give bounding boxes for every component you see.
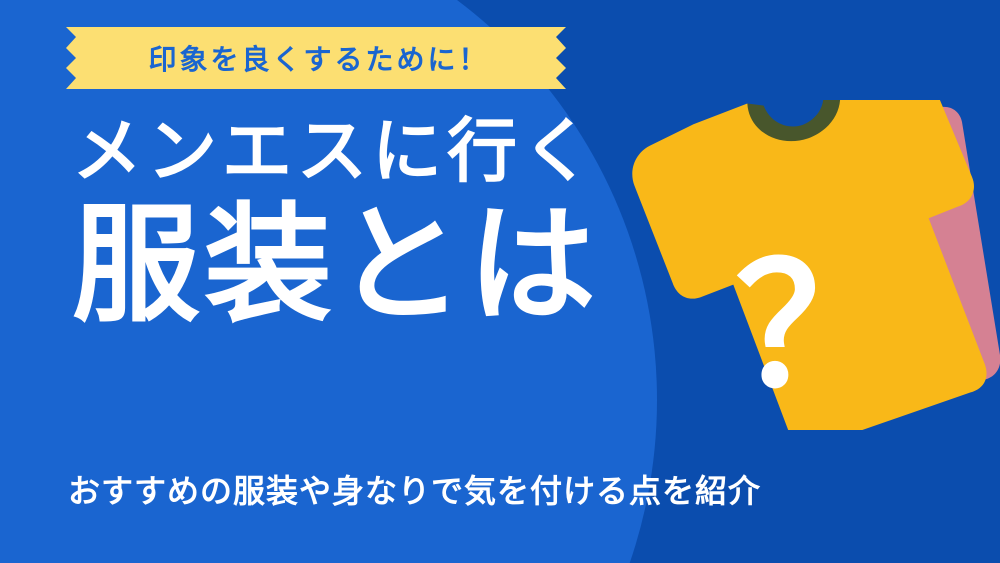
hero-banner: 印象を良くするために！ メンエスに行く 服装とは ？ おすすめの服装や身なりで気… (0, 0, 1000, 563)
question-mark: ？ (735, 243, 903, 411)
subtitle-text: おすすめの服装や身なりで気を付ける点を紹介 (68, 466, 761, 512)
ribbon-label: 印象を良くするために！ (66, 27, 566, 89)
headline-line-1: メンエスに行く (72, 115, 902, 189)
ribbon-banner: 印象を良くするために！ (66, 27, 566, 89)
